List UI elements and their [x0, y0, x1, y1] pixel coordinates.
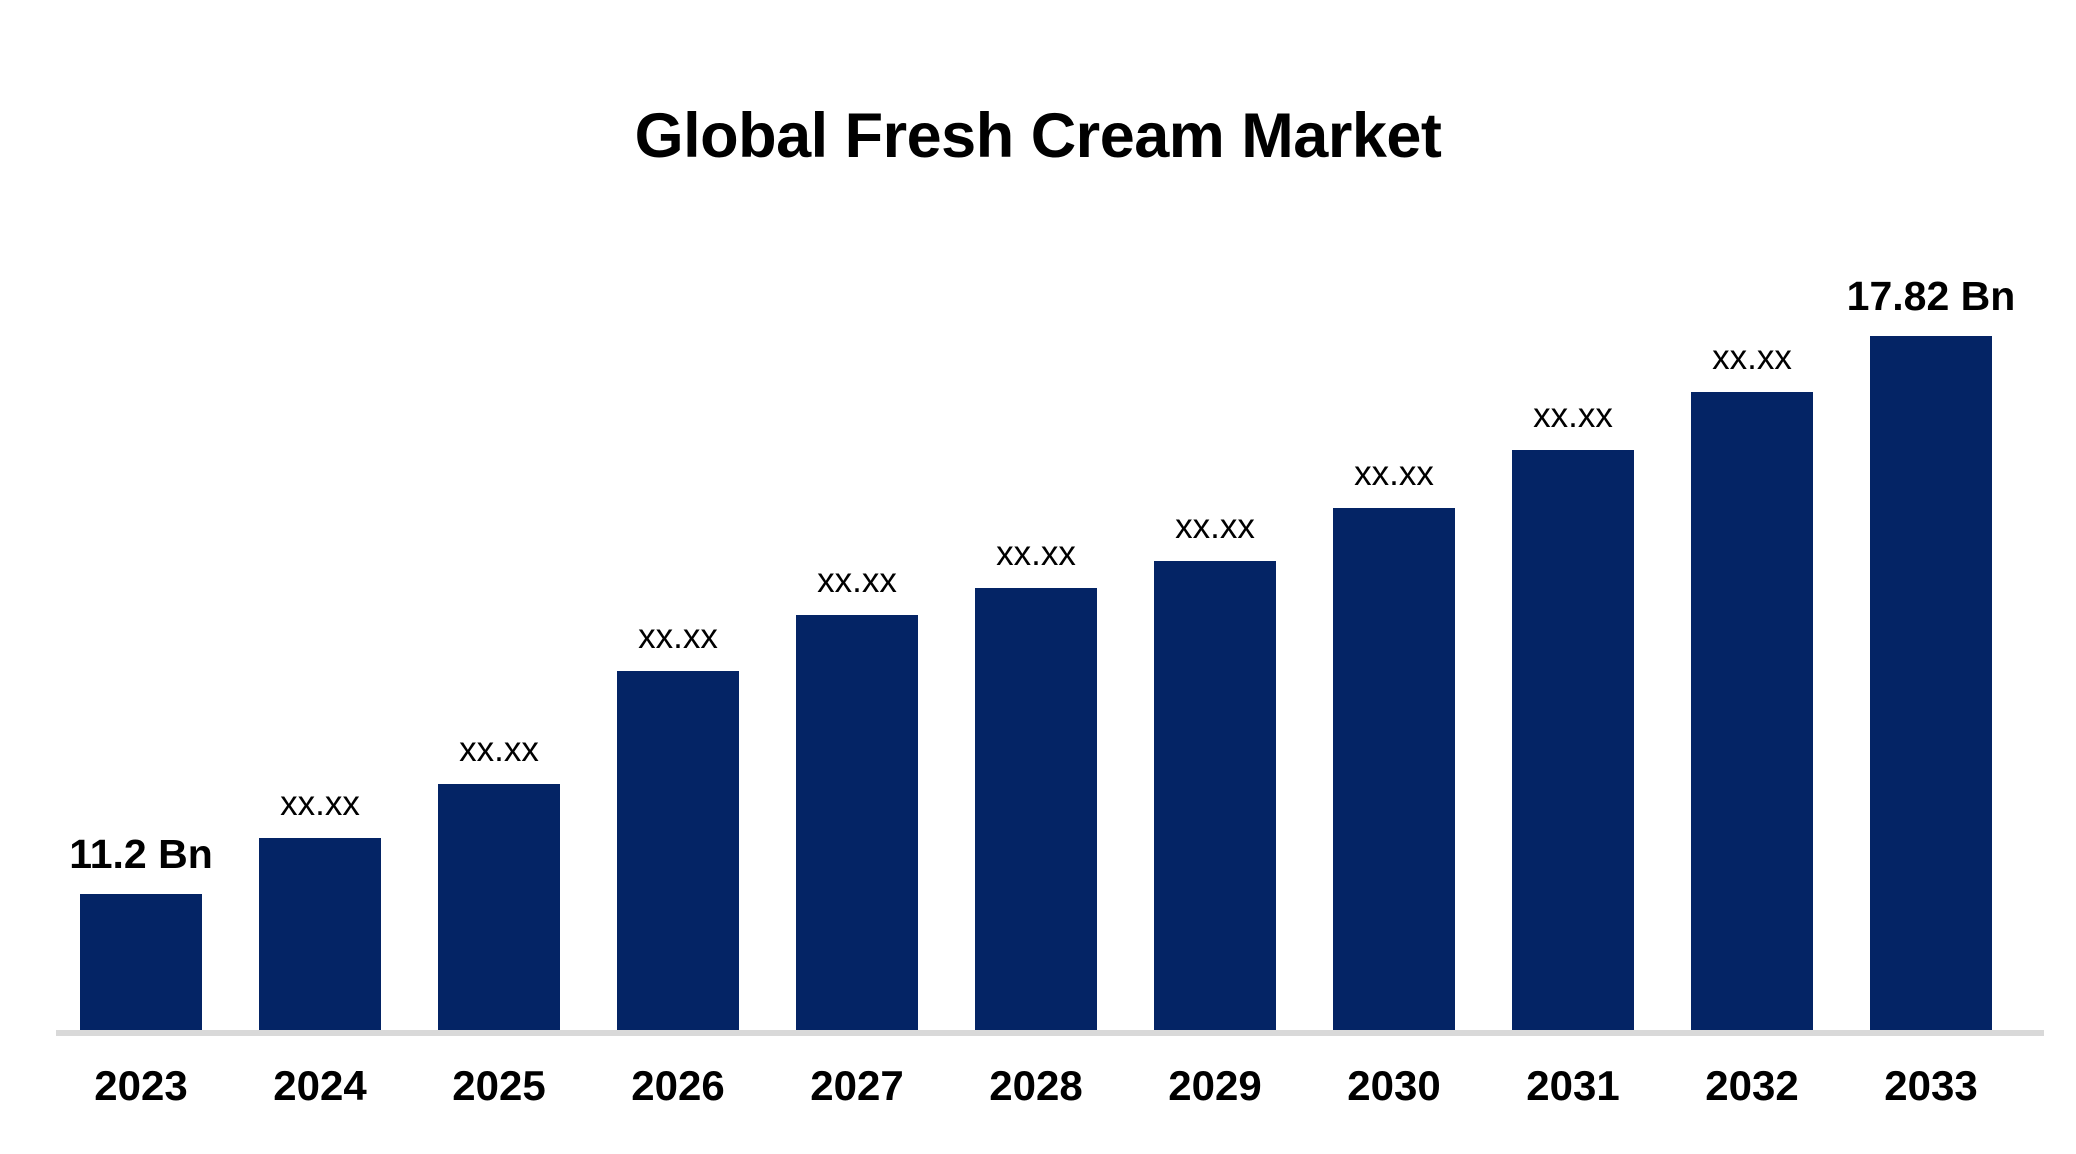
- bar-value-label: xx.xx: [1631, 338, 1873, 378]
- bar[interactable]: [975, 588, 1097, 1030]
- x-axis-tick-2027: 2027: [757, 1062, 957, 1110]
- bar-value-label: 17.82 Bn: [1810, 273, 2052, 320]
- chart-figure: Global Fresh Cream Market 11.2 Bnxx.xxxx…: [0, 0, 2076, 1154]
- x-axis-tick-2031: 2031: [1473, 1062, 1673, 1110]
- bar[interactable]: [1870, 336, 1992, 1030]
- bar-value-label: xx.xx: [378, 730, 620, 770]
- bar[interactable]: [1691, 392, 1813, 1030]
- bar[interactable]: [1512, 450, 1634, 1030]
- x-axis-tick-2023: 2023: [41, 1062, 241, 1110]
- bar-value-label: xx.xx: [1094, 507, 1336, 547]
- x-axis-tick-2033: 2033: [1831, 1062, 2031, 1110]
- bar[interactable]: [438, 784, 560, 1030]
- plot-area: 11.2 Bnxx.xxxx.xxxx.xxxx.xxxx.xxxx.xxxx.…: [0, 0, 2076, 1154]
- x-axis-line: [56, 1030, 2044, 1036]
- x-axis-tick-2030: 2030: [1294, 1062, 1494, 1110]
- x-axis-tick-2025: 2025: [399, 1062, 599, 1110]
- bar[interactable]: [1154, 561, 1276, 1030]
- x-axis-tick-2029: 2029: [1115, 1062, 1315, 1110]
- bar[interactable]: [796, 615, 918, 1030]
- bar[interactable]: [80, 894, 202, 1030]
- bar[interactable]: [1333, 508, 1455, 1030]
- x-axis-tick-2028: 2028: [936, 1062, 1136, 1110]
- x-axis-tick-2032: 2032: [1652, 1062, 1852, 1110]
- bar[interactable]: [617, 671, 739, 1030]
- x-axis-tick-2024: 2024: [220, 1062, 420, 1110]
- bar[interactable]: [259, 838, 381, 1030]
- bar-value-label: xx.xx: [199, 784, 441, 824]
- bar-value-label: xx.xx: [1273, 454, 1515, 494]
- x-axis-tick-2026: 2026: [578, 1062, 778, 1110]
- bar-value-label: xx.xx: [1452, 396, 1694, 436]
- bar-value-label: 11.2 Bn: [20, 831, 262, 878]
- bar-value-label: xx.xx: [557, 617, 799, 657]
